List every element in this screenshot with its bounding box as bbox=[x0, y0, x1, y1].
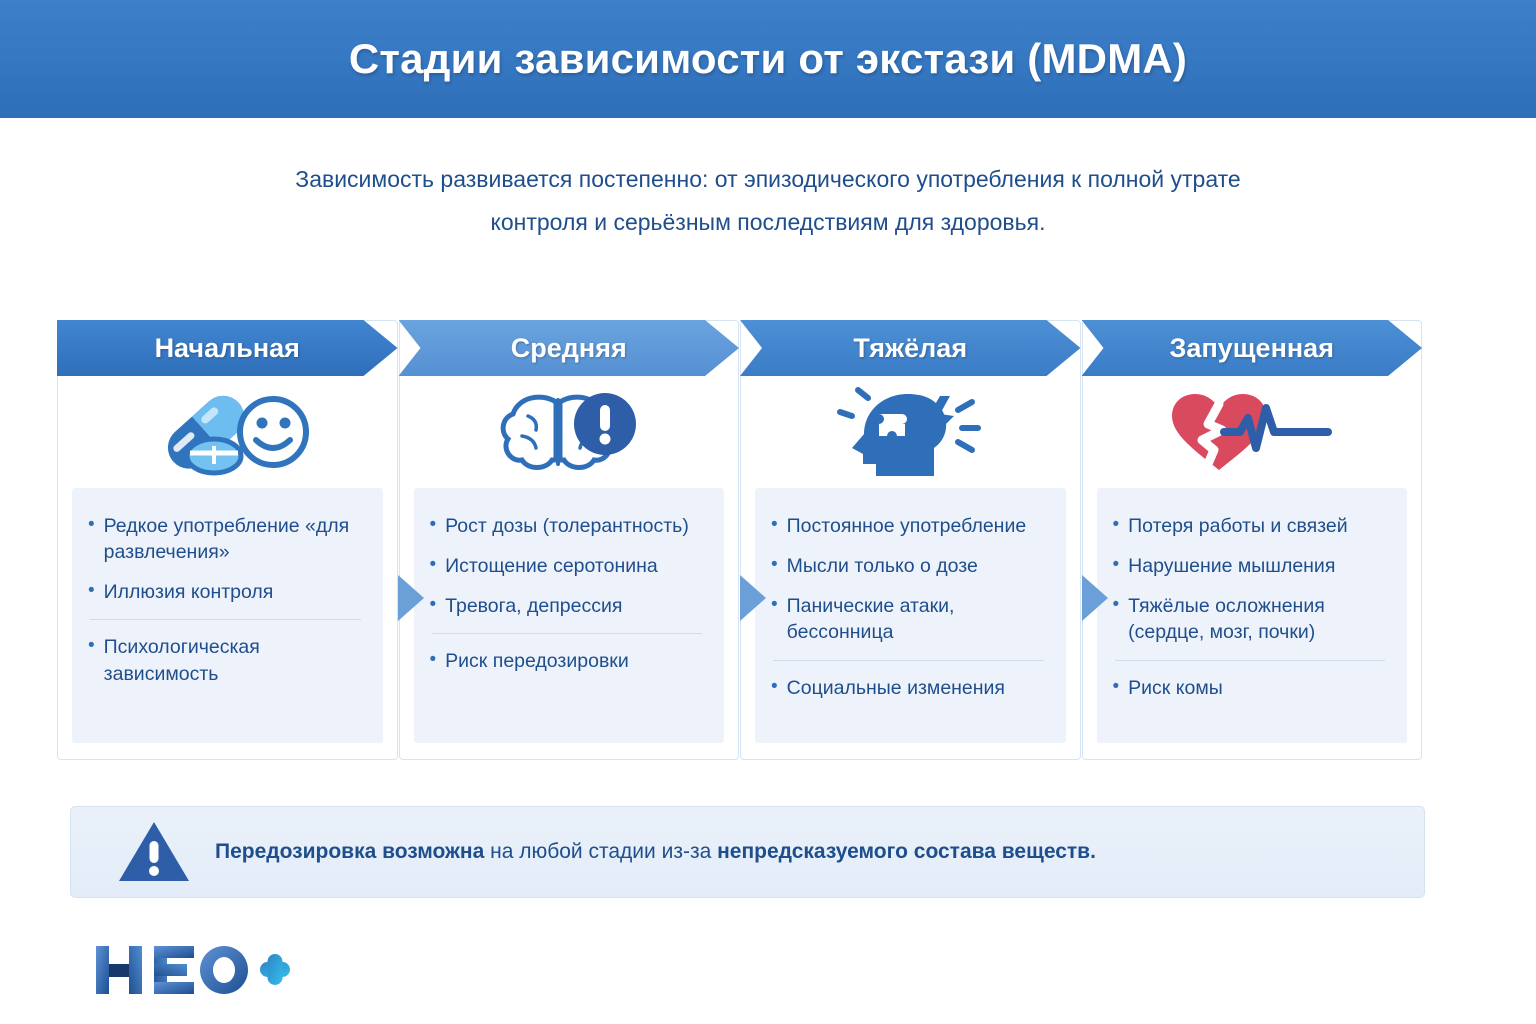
bullet-dot-icon: • bbox=[430, 513, 437, 537]
bullet-dot-icon: • bbox=[771, 513, 778, 537]
divider bbox=[1115, 660, 1386, 661]
stage-header-4: Запущенная bbox=[1082, 320, 1423, 376]
pills-smiley-icon bbox=[142, 386, 312, 478]
bullet-text: Мысли только о дозе bbox=[787, 553, 978, 579]
list-item: • Постоянное употребление bbox=[771, 506, 1050, 546]
list-item: • Тяжёлые осложнения (сердце, мозг, почк… bbox=[1113, 586, 1392, 652]
stage-label-4: Запущенная bbox=[1170, 333, 1334, 364]
stage-icon-area-1 bbox=[58, 376, 397, 488]
page-title: Стадии зависимости от экстази (MDMA) bbox=[349, 35, 1187, 83]
bullet-dot-icon: • bbox=[430, 593, 437, 617]
bullet-dot-icon: • bbox=[1113, 675, 1120, 699]
list-item: • Социальные изменения bbox=[771, 668, 1050, 708]
subtitle-line-2: контроля и серьёзным последствиям для зд… bbox=[180, 201, 1356, 244]
stage-icon-area-4 bbox=[1083, 376, 1422, 488]
warning-banner: Передозировка возможна на любой стадии и… bbox=[70, 806, 1425, 898]
bullet-dot-icon: • bbox=[430, 553, 437, 577]
subtitle-line-1: Зависимость развивается постепенно: от э… bbox=[180, 158, 1356, 201]
warning-bold-1: Передозировка возможна bbox=[215, 840, 484, 863]
bullet-dot-icon: • bbox=[1113, 553, 1120, 577]
subtitle-block: Зависимость развивается постепенно: от э… bbox=[0, 118, 1536, 243]
bullet-dot-icon: • bbox=[88, 513, 95, 537]
bullet-text: Рост дозы (толерантность) bbox=[445, 513, 689, 539]
brain-alert-icon bbox=[494, 386, 644, 478]
warning-normal: на любой стадии из-за bbox=[484, 840, 717, 863]
stage-icon-area-2 bbox=[400, 376, 739, 488]
stage-label-2: Средняя bbox=[511, 333, 627, 364]
neo-plus-logo-icon bbox=[92, 938, 292, 1002]
list-item: • Риск передозировки bbox=[430, 641, 709, 681]
list-item: • Панические атаки, бессонница bbox=[771, 586, 1050, 652]
bullet-dot-icon: • bbox=[771, 593, 778, 617]
list-item: • Редкое употребление «для развлечения» bbox=[88, 506, 367, 572]
stage-label-3: Тяжёлая bbox=[853, 333, 967, 364]
bullet-dot-icon: • bbox=[771, 553, 778, 577]
bullet-text: Потеря работы и связей bbox=[1128, 513, 1347, 539]
bullet-text: Риск передозировки bbox=[445, 648, 629, 674]
list-item: • Риск комы bbox=[1113, 668, 1392, 708]
stage-bullets-1: • Редкое употребление «для развлечения» … bbox=[72, 488, 383, 743]
stage-card-4[interactable]: Запущенная • Потеря работы и связей • На… bbox=[1082, 320, 1423, 760]
bullet-text: Постоянное употребление bbox=[787, 513, 1027, 539]
list-item: • Иллюзия контроля bbox=[88, 572, 367, 612]
bullet-dot-icon: • bbox=[88, 634, 95, 658]
stage-bullets-4: • Потеря работы и связей • Нарушение мыш… bbox=[1097, 488, 1408, 743]
stage-header-2: Средняя bbox=[399, 320, 740, 376]
list-item: • Рост дозы (толерантность) bbox=[430, 506, 709, 546]
stage-card-3[interactable]: Тяжёлая • Постоянное употребление bbox=[740, 320, 1081, 760]
page-header: Стадии зависимости от экстази (MDMA) bbox=[0, 0, 1536, 118]
warning-text: Передозировка возможна на любой стадии и… bbox=[215, 840, 1096, 864]
stage-bullets-2: • Рост дозы (толерантность) • Истощение … bbox=[414, 488, 725, 743]
bullet-text: Истощение серотонина bbox=[445, 553, 658, 579]
bullet-dot-icon: • bbox=[1113, 593, 1120, 617]
stage-bullets-3: • Постоянное употребление • Мысли только… bbox=[755, 488, 1066, 743]
stage-icon-area-3 bbox=[741, 376, 1080, 488]
bullet-text: Иллюзия контроля bbox=[104, 579, 274, 605]
stage-label-1: Начальная bbox=[155, 333, 300, 364]
bullet-text: Риск комы bbox=[1128, 675, 1223, 701]
list-item: • Истощение серотонина bbox=[430, 546, 709, 586]
bullet-text: Нарушение мышления bbox=[1128, 553, 1335, 579]
broken-heart-ecg-icon bbox=[1164, 386, 1339, 478]
list-item: • Тревога, депрессия bbox=[430, 586, 709, 626]
bullet-text: Тревога, депрессия bbox=[445, 593, 622, 619]
bullet-text: Тяжёлые осложнения (сердце, мозг, почки) bbox=[1128, 593, 1391, 645]
stage-card-2[interactable]: Средняя • Рост дозы ( bbox=[399, 320, 740, 760]
stage-card-1[interactable]: Начальная bbox=[57, 320, 398, 760]
bullet-text: Панические атаки, бессонница bbox=[787, 593, 1050, 645]
list-item: • Психологическая зависимость bbox=[88, 627, 367, 693]
list-item: • Потеря работы и связей bbox=[1113, 506, 1392, 546]
bullet-dot-icon: • bbox=[1113, 513, 1120, 537]
bullet-text: Психологическая зависимость bbox=[104, 634, 367, 686]
divider bbox=[90, 619, 361, 620]
bullet-text: Редкое употребление «для развлечения» bbox=[104, 513, 367, 565]
stage-header-1: Начальная bbox=[57, 320, 398, 376]
list-item: • Нарушение мышления bbox=[1113, 546, 1392, 586]
divider bbox=[432, 633, 703, 634]
head-puzzle-lightning-icon bbox=[830, 384, 990, 480]
stage-header-3: Тяжёлая bbox=[740, 320, 1081, 376]
bullet-dot-icon: • bbox=[88, 579, 95, 603]
list-item: • Мысли только о дозе bbox=[771, 546, 1050, 586]
warning-bold-2: непредсказуемого состава веществ. bbox=[717, 840, 1096, 863]
warning-triangle-icon bbox=[117, 819, 191, 885]
divider bbox=[773, 660, 1044, 661]
bullet-text: Социальные изменения bbox=[787, 675, 1005, 701]
logo[interactable] bbox=[92, 938, 292, 1002]
bullet-dot-icon: • bbox=[771, 675, 778, 699]
stages-row: Начальная bbox=[57, 320, 1423, 760]
bullet-dot-icon: • bbox=[430, 648, 437, 672]
